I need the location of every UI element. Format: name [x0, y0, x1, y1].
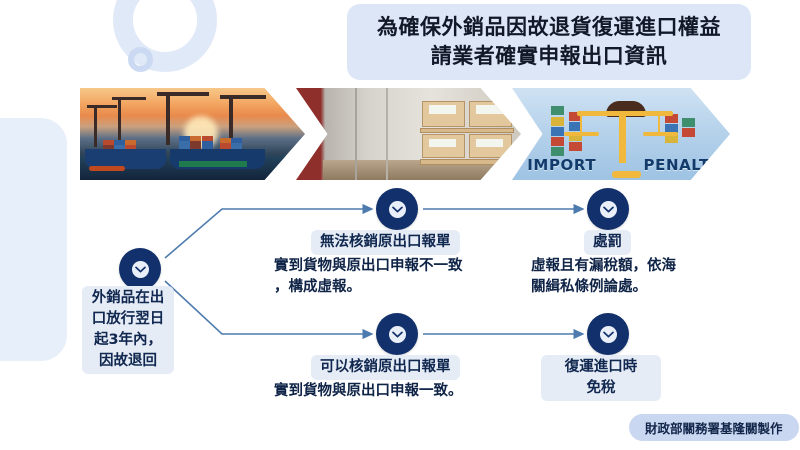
start-label-line-1: 外銷品在出 — [92, 290, 165, 306]
flow-node-branch-bottom[interactable] — [376, 313, 418, 355]
title-banner: 為確保外銷品因故退貨復運進口權益 請業者確實申報出口資訊 — [347, 4, 751, 80]
flow-start-label: 外銷品在出 口放行翌日 起3年內， 因故退回 — [82, 286, 174, 374]
branch-bottom-body-line-1: 實到貨物與原出口申報一致。 — [274, 383, 463, 399]
flow-branch-bottom-body: 實到貨物與原出口申報一致。 — [274, 381, 514, 402]
title-line-1: 為確保外銷品因故退貨復運進口權益 — [377, 14, 721, 41]
branch-top-body-line-1: 實到貨物與原出口申報不一致 — [274, 258, 463, 274]
decorative-ring-small-icon — [128, 47, 153, 72]
photo-label-penalty: PENALTY — [644, 156, 722, 174]
result-bottom-line-1: 復運進口時 — [565, 359, 638, 375]
flow-branch-top-body: 實到貨物與原出口申報不一致 ，構成虛報。 — [274, 256, 509, 297]
decorative-panel-left — [0, 118, 67, 361]
chevron-down-icon — [600, 326, 617, 343]
title-line-2: 請業者確實申報出口資訊 — [431, 43, 668, 70]
result-bottom-line-2: 免稅 — [587, 380, 616, 396]
chevron-down-icon — [389, 201, 406, 218]
photo-panel-warehouse-pallets — [296, 88, 521, 180]
branch-top-body-line-2: ，構成虛報。 — [274, 279, 361, 295]
result-top-body-line-2: 關緝私條例論處。 — [531, 279, 647, 295]
flow-result-top-heading: 處罰 — [584, 230, 631, 255]
flow-node-start[interactable] — [119, 248, 161, 290]
flow-node-branch-top[interactable] — [376, 188, 418, 230]
infographic-canvas: 為確保外銷品因故退貨復運進口權益 請業者確實申報出口資訊 — [0, 0, 800, 450]
flow-result-top-body: 虛報且有漏稅額，依海 關緝私條例論處。 — [531, 256, 706, 297]
flow-node-result-bottom[interactable] — [587, 313, 629, 355]
start-label-line-2: 口放行翌日 — [92, 311, 165, 327]
chevron-down-icon — [600, 201, 617, 218]
footer-attribution: 財政部關務署基隆關製作 — [629, 414, 799, 441]
result-top-body-line-1: 虛報且有漏稅額，依海 — [531, 258, 676, 274]
flow-branch-bottom-heading: 可以核銷原出口報單 — [311, 355, 460, 380]
chevron-down-icon — [389, 326, 406, 343]
start-label-line-3: 起3年內， — [94, 332, 162, 348]
flow-branch-top-heading: 無法核銷原出口報單 — [311, 230, 460, 255]
flow-result-bottom-heading: 復運進口時 免稅 — [541, 355, 661, 401]
photo-panel-port-terminal — [80, 88, 305, 180]
start-label-line-4: 因故退回 — [99, 353, 157, 369]
chevron-down-icon — [132, 261, 149, 278]
photo-panel-import-penalty: IMPORT PENALTY — [512, 88, 730, 180]
flow-node-result-top[interactable] — [587, 188, 629, 230]
photo-label-import: IMPORT — [527, 156, 596, 174]
photo-chevron-strip: IMPORT PENALTY — [80, 88, 730, 180]
